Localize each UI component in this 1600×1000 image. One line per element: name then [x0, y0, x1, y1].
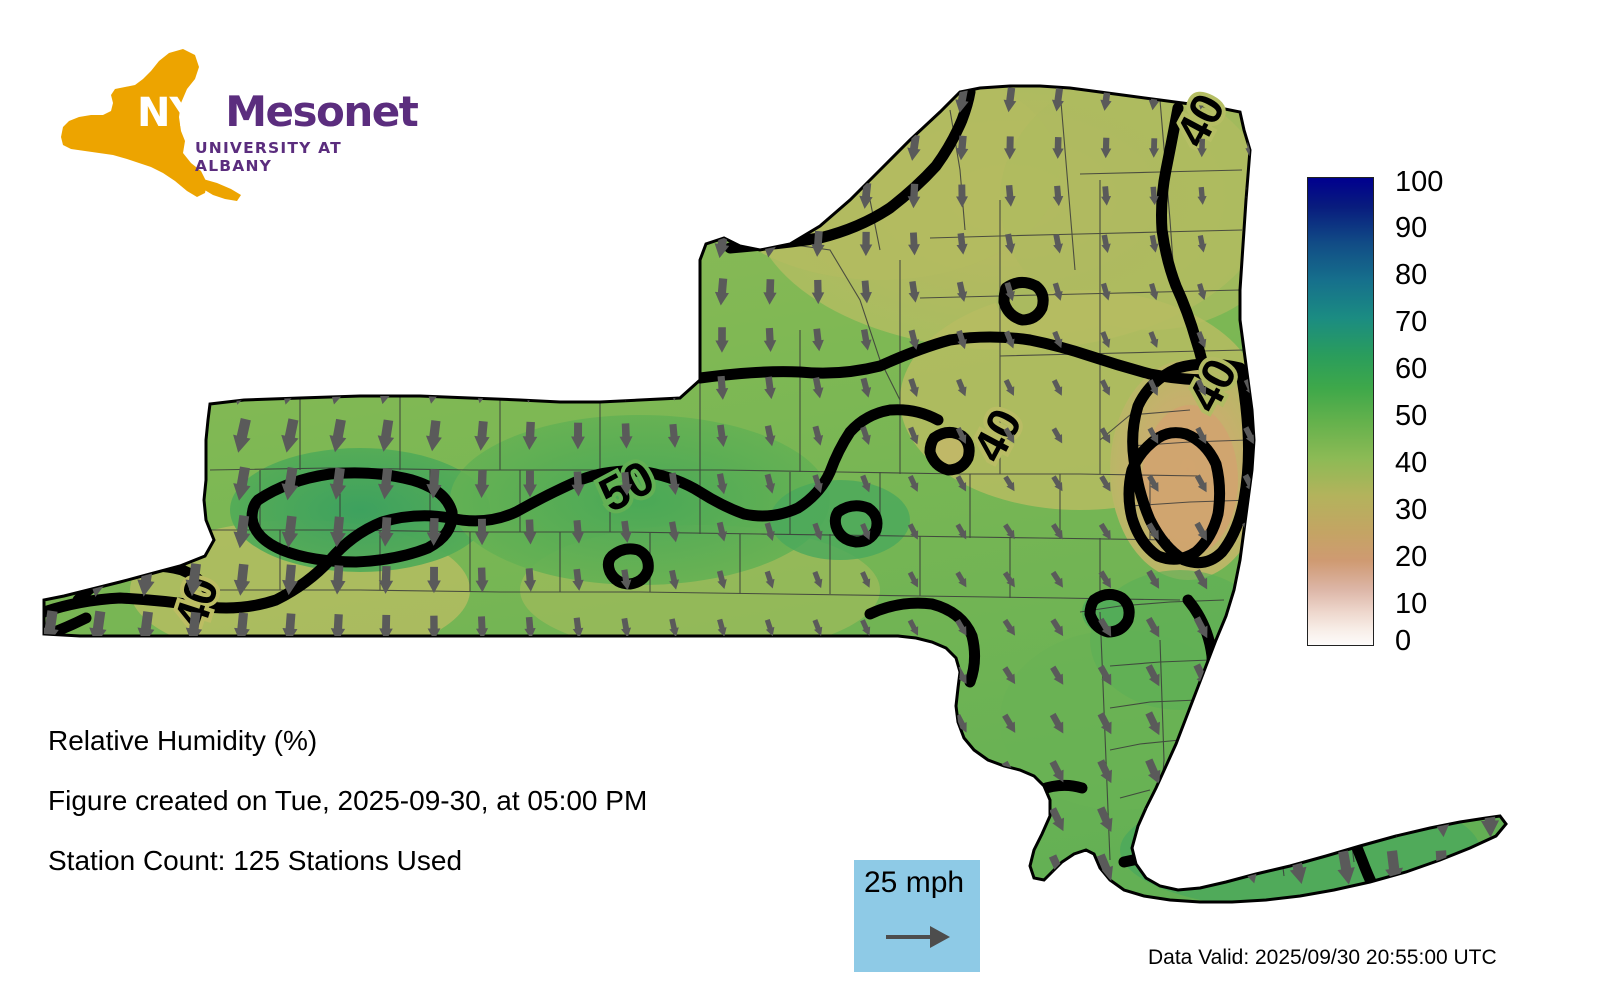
wind-arrow-icon [669, 859, 680, 877]
wind-arrow-icon [87, 659, 108, 694]
wind-arrow-icon [39, 755, 61, 789]
wind-arrow-icon [1479, 422, 1500, 450]
wind-arrow-icon [904, 85, 925, 115]
wind-arrow-icon [1239, 661, 1262, 690]
wind-arrow-icon [1334, 707, 1357, 740]
wind-arrow-icon [1483, 233, 1497, 254]
wind-arrow-icon [1390, 139, 1399, 156]
wind-arrow-icon [227, 130, 256, 167]
wind-arrow-icon [906, 666, 922, 686]
wind-arrow-icon [1290, 377, 1307, 398]
wind-arrow-icon [711, 179, 734, 212]
wind-arrow-icon [565, 226, 591, 262]
wind-arrow-icon [227, 225, 257, 264]
wind-arrow-icon [331, 711, 345, 736]
wind-arrow-icon [422, 322, 447, 358]
wind-arrow-icon [233, 661, 251, 691]
wind-arrow-icon [282, 662, 298, 690]
wind-arrow-icon [1479, 611, 1502, 645]
colorbar-tick: 10 [1395, 590, 1427, 619]
wind-arrow-icon [1480, 375, 1500, 401]
wind-arrow-icon [763, 667, 777, 686]
wind-arrow-icon [1292, 235, 1304, 253]
wind-arrow-icon [1239, 614, 1261, 641]
wind-arrow-icon [953, 760, 972, 783]
wind-arrow-icon [1383, 754, 1406, 789]
wind-arrow-icon [180, 369, 207, 408]
figure-created-text: Figure created on Tue, 2025-09-30, at 05… [48, 785, 647, 817]
wind-arrow-icon [282, 759, 297, 785]
wind-arrow-icon [418, 80, 450, 119]
wind-arrow-icon [811, 857, 826, 879]
wind-arrow-icon [1484, 186, 1496, 205]
wind-arrow-icon [84, 321, 112, 359]
wind-arrow-icon [708, 82, 736, 119]
wind-arrow-icon [716, 858, 728, 877]
wind-arrow-icon [668, 763, 680, 781]
wind-arrow-icon [516, 225, 543, 262]
wind-arrow-icon [37, 465, 62, 503]
wind-arrow-icon [1431, 754, 1453, 790]
wind-arrow-icon [709, 130, 735, 165]
wind-arrow-icon [1290, 330, 1305, 350]
wind-arrow-icon [469, 274, 495, 311]
wind-arrow-icon [1479, 659, 1501, 694]
wind-arrow-icon [716, 811, 728, 830]
wind-arrow-icon [37, 417, 63, 455]
wind-arrow-icon [419, 225, 448, 264]
colorbar-tick: 30 [1395, 496, 1427, 525]
wind-arrow-icon [572, 714, 583, 733]
wind-arrow-icon [1243, 283, 1256, 302]
wind-arrow-icon [1435, 234, 1448, 254]
wind-arrow-icon [1481, 850, 1499, 885]
wind-arrow-icon [1292, 91, 1304, 110]
wind-arrow-icon [1240, 567, 1261, 593]
colorbar [1307, 177, 1374, 646]
wind-arrow-icon [524, 665, 536, 686]
wind-arrow-icon [886, 922, 952, 952]
wind-arrow-icon [1238, 709, 1261, 740]
wind-arrow-icon [428, 664, 440, 687]
wind-arrow-icon [611, 81, 642, 120]
wind-arrow-icon [466, 128, 498, 167]
wind-arrow-icon [613, 178, 640, 214]
wind-arrow-icon [37, 274, 64, 310]
wind-arrow-icon [1481, 328, 1499, 353]
wind-arrow-icon [467, 177, 497, 216]
wind-arrow-icon [371, 224, 401, 263]
wind-arrow-icon [85, 417, 111, 455]
wind-arrow-icon [134, 514, 157, 551]
wind-arrow-icon [524, 714, 535, 734]
wind-arrow-icon [331, 760, 345, 784]
wind-arrow-icon [181, 417, 207, 455]
wind-arrow-icon [519, 323, 541, 357]
wind-arrow-icon [518, 274, 543, 310]
wind-arrow-icon [1334, 755, 1357, 790]
wind-arrow-icon [38, 561, 61, 598]
colorbar-tick: 0 [1395, 627, 1411, 656]
wind-arrow-icon [1288, 519, 1309, 544]
wind-arrow-icon [1334, 802, 1357, 838]
wind-arrow-icon [373, 321, 399, 359]
wind-arrow-icon [668, 666, 681, 685]
wind-arrow-icon [1479, 469, 1501, 499]
wind-arrow-icon [757, 82, 784, 117]
wind-arrow-icon [1286, 755, 1310, 789]
colorbar-tick: 90 [1395, 214, 1427, 243]
wind-arrow-icon [331, 663, 346, 690]
wind-arrow-icon [468, 225, 496, 263]
wind-arrow-icon [85, 465, 110, 503]
wind-arrow-icon [84, 226, 111, 262]
wind-arrow-icon [37, 227, 63, 261]
wind-arrow-icon [234, 758, 251, 785]
wind-arrow-icon [572, 666, 584, 686]
wind-arrow-icon [856, 133, 876, 163]
wind-arrow-icon [760, 180, 781, 211]
wind-arrow-icon [181, 83, 207, 117]
wind-arrow-icon [1430, 564, 1453, 596]
wind-arrow-icon [905, 761, 922, 783]
wind-arrow-icon [811, 810, 826, 831]
wind-arrow-icon [668, 715, 680, 734]
wind-arrow-icon [1480, 754, 1500, 789]
wind-arrow-icon [324, 321, 351, 359]
wind-arrow-icon [621, 859, 631, 877]
wind-arrow-icon [858, 714, 873, 734]
wind-arrow-icon [38, 133, 61, 164]
wind-arrow-icon [228, 321, 256, 360]
wind-arrow-icon [227, 177, 257, 215]
wind-arrow-icon [1479, 706, 1500, 741]
wind-arrow-icon [39, 658, 61, 694]
wind-arrow-icon [86, 132, 111, 165]
wind-arrow-icon [1478, 563, 1501, 596]
wind-arrow-icon [659, 81, 689, 119]
wind-arrow-icon [763, 715, 776, 734]
wind-arrow-icon [1431, 706, 1453, 741]
wind-arrow-icon [811, 762, 825, 782]
wind-arrow-icon [1437, 91, 1448, 109]
wind-arrow-icon [665, 277, 684, 307]
wind-arrow-icon [428, 713, 439, 735]
wind-arrow-icon [858, 762, 874, 783]
wind-arrow-icon [179, 273, 208, 312]
wind-arrow-icon [716, 763, 728, 782]
wind-arrow-icon [1293, 187, 1303, 205]
wind-arrow-icon [1433, 376, 1452, 401]
wind-arrow-icon [1334, 660, 1357, 692]
wind-arrow-icon [40, 86, 61, 115]
colorbar-tick: 50 [1395, 402, 1427, 431]
wind-arrow-icon [228, 82, 256, 117]
data-valid-text: Data Valid: 2025/09/30 20:55:00 UTC [1148, 946, 1497, 970]
wind-arrow-icon [811, 714, 825, 733]
wind-arrow-icon [84, 274, 112, 311]
wind-arrow-icon [87, 85, 110, 116]
wind-arrow-icon [855, 84, 878, 116]
wind-arrow-icon [763, 858, 776, 878]
wind-arrow-icon [1291, 282, 1305, 301]
wind-arrow-icon [476, 665, 488, 687]
wind-arrow-icon [1293, 139, 1302, 156]
wind-arrow-icon [1238, 756, 1262, 788]
wind-arrow-icon [1190, 757, 1213, 788]
wind-arrow-icon [1431, 470, 1453, 498]
wind-arrow-icon [134, 84, 158, 116]
wind-arrow-icon [1286, 803, 1310, 838]
wind-arrow-icon [182, 465, 206, 502]
wind-arrow-icon [1288, 472, 1307, 496]
wind-arrow-icon [1244, 235, 1256, 253]
wind-arrow-icon [616, 276, 637, 308]
wind-arrow-icon [1485, 139, 1494, 157]
wind-arrow-icon [1431, 659, 1454, 693]
wind-arrow-icon [370, 128, 402, 167]
wind-arrow-icon [525, 763, 535, 782]
wind-arrow-icon [132, 321, 160, 359]
wind-arrow-icon [134, 465, 159, 503]
wind-arrow-icon [763, 810, 776, 830]
wind-arrow-icon [1485, 91, 1496, 109]
colorbar-tick: 80 [1395, 261, 1427, 290]
wind-arrow-icon [275, 129, 305, 167]
wind-arrow-icon [420, 273, 447, 311]
wind-arrow-icon [418, 128, 450, 167]
wind-arrow-icon [514, 128, 545, 167]
wind-arrow-icon [1190, 804, 1214, 837]
wind-arrow-icon [1383, 802, 1405, 838]
wind-arrow-icon [180, 321, 209, 360]
wind-arrow-icon [133, 131, 159, 165]
wind-arrow-icon [806, 83, 831, 117]
wind-arrow-icon [370, 176, 401, 215]
wind-arrow-icon [466, 80, 498, 119]
wind-arrow-icon [88, 756, 109, 788]
wind-arrow-icon [573, 763, 584, 781]
wind-arrow-icon [1190, 851, 1215, 885]
colorbar-tick: 40 [1395, 449, 1427, 478]
wind-arrow-icon [1382, 659, 1405, 692]
wind-arrow-icon [372, 273, 400, 312]
wind-arrow-icon [564, 177, 592, 214]
mesonet-relative-humidity-map: NYS Mesonet UNIVERSITY AT ALBANY [0, 0, 1600, 1000]
wind-arrow-icon [952, 808, 972, 833]
wind-arrow-icon [1287, 614, 1309, 643]
wind-arrow-icon [811, 666, 825, 685]
wind-arrow-icon [758, 131, 782, 165]
wind-arrow-icon [563, 129, 593, 168]
wind-arrow-icon [380, 761, 393, 783]
station-count-text: Station Count: 125 Stations Used [48, 845, 462, 877]
wind-arrow-icon [1431, 517, 1454, 547]
wind-arrow-icon [1341, 139, 1350, 156]
wind-arrow-icon [763, 762, 776, 781]
wind-arrow-icon [1434, 281, 1449, 303]
wind-arrow-icon [1432, 423, 1452, 450]
wind-arrow-icon [515, 177, 544, 215]
wind-arrow-icon [619, 374, 634, 401]
wind-arrow-icon [180, 178, 209, 215]
wind-arrow-icon [660, 130, 688, 167]
wind-arrow-icon [36, 322, 63, 359]
page-title: Relative Humidity (%) [48, 725, 317, 757]
wind-arrow-icon [668, 811, 679, 829]
wind-arrow-icon [37, 369, 64, 407]
wind-legend-label: 25 mph [864, 866, 964, 900]
wind-arrow-icon [1433, 328, 1450, 351]
wind-arrow-icon [716, 715, 729, 734]
wind-arrow-icon [620, 666, 633, 686]
wind-arrow-icon [573, 859, 582, 876]
wind-arrow-icon [323, 272, 352, 311]
wind-arrow-icon [136, 659, 156, 692]
wind-arrow-icon [38, 513, 62, 551]
wind-arrow-icon [620, 763, 631, 781]
wind-arrow-icon [428, 762, 439, 783]
wind-arrow-icon [1244, 90, 1256, 110]
wind-arrow-icon [620, 715, 632, 734]
wind-arrow-icon [184, 660, 203, 692]
wind-arrow-icon [323, 81, 353, 119]
wind-arrow-icon [567, 275, 590, 309]
wind-arrow-icon [1289, 425, 1307, 447]
wind-arrow-icon [906, 714, 923, 735]
wind-arrow-icon [807, 132, 829, 164]
wind-arrow-icon [514, 80, 546, 119]
wind-speed-legend: 25 mph [854, 860, 980, 972]
wind-arrow-icon [275, 82, 304, 119]
wind-arrow-icon [1191, 709, 1214, 738]
wind-arrow-icon [858, 666, 873, 685]
wind-arrow-icon [183, 514, 206, 550]
wind-arrow-icon [85, 179, 111, 213]
wind-arrow-icon [470, 322, 493, 357]
wind-arrow-icon [132, 273, 161, 311]
wind-arrow-icon [525, 859, 534, 876]
wind-arrow-icon [1389, 91, 1400, 109]
wind-arrow-icon [476, 714, 487, 735]
wind-arrow-icon [570, 373, 587, 402]
wind-arrow-icon [136, 757, 156, 788]
wind-arrow-icon [179, 225, 208, 263]
wind-arrow-icon [1382, 707, 1405, 741]
wind-arrow-icon [132, 369, 159, 408]
wind-arrow-icon [379, 664, 392, 689]
colorbar-tick: 20 [1395, 543, 1427, 572]
colorbar-tick: 60 [1395, 355, 1427, 384]
wind-arrow-icon [84, 369, 111, 407]
wind-arrow-icon [1479, 516, 1502, 548]
wind-arrow-icon [1238, 803, 1262, 837]
wind-arrow-icon [568, 324, 588, 356]
wind-arrow-icon [1286, 708, 1310, 740]
wind-arrow-icon [617, 325, 635, 355]
wind-arrow-icon [1287, 566, 1309, 593]
wind-arrow-icon [809, 181, 828, 210]
wind-arrow-icon [611, 129, 640, 167]
wind-arrow-icon [38, 180, 63, 213]
wind-arrow-icon [663, 228, 685, 261]
wind-arrow-icon [477, 762, 487, 781]
wind-arrow-icon [275, 224, 305, 263]
wind-arrow-icon [1482, 281, 1498, 304]
wind-arrow-icon [419, 176, 450, 215]
wind-arrow-icon [1286, 661, 1309, 692]
wind-arrow-icon [132, 178, 160, 214]
wind-arrow-icon [227, 272, 256, 311]
wind-arrow-icon [180, 130, 208, 166]
wind-arrow-icon [322, 176, 353, 215]
wind-arrow-icon [858, 809, 874, 831]
wind-arrow-icon [275, 177, 306, 216]
wind-arrow-icon [86, 513, 110, 550]
colorbar-tick: 70 [1395, 308, 1427, 337]
wind-arrow-icon [185, 757, 203, 786]
wind-arrow-icon [133, 417, 159, 455]
wind-arrow-icon [715, 666, 728, 685]
wind-arrow-icon [614, 227, 638, 261]
colorbar-tick: 100 [1395, 168, 1443, 197]
wind-arrow-icon [276, 321, 304, 360]
wind-arrow-icon [999, 807, 1021, 833]
wind-arrow-icon [999, 854, 1022, 882]
wind-arrow-icon [562, 80, 594, 119]
wind-arrow-icon [1340, 91, 1351, 109]
wind-arrow-icon [323, 224, 353, 263]
wind-arrow-icon [275, 272, 304, 311]
wind-arrow-icon [1430, 611, 1453, 644]
wind-arrow-icon [380, 712, 393, 735]
wind-arrow-icon [662, 179, 687, 214]
wind-arrow-icon [132, 226, 160, 263]
wind-arrow-icon [666, 326, 681, 354]
wind-arrow-icon [1437, 139, 1446, 156]
wind-arrow-icon [370, 81, 401, 120]
wind-arrow-icon [905, 808, 923, 831]
wind-arrow-icon [322, 129, 353, 168]
wind-arrow-icon [477, 859, 487, 877]
